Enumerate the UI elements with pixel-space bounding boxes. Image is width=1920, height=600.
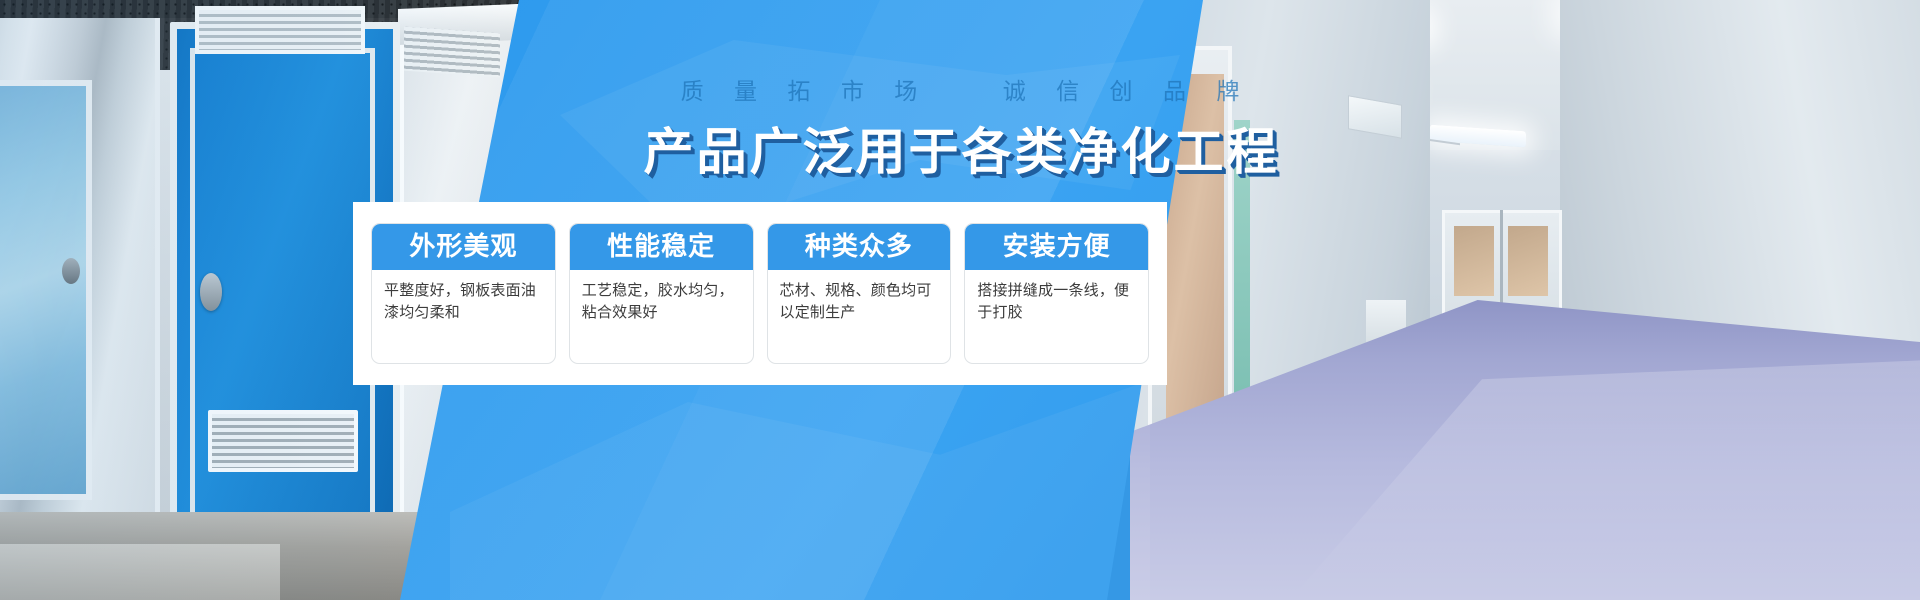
feature-card-4-title: 安装方便 (965, 224, 1148, 270)
feature-card-3-title: 种类众多 (768, 224, 951, 270)
far-door-window-right (1508, 226, 1548, 296)
feature-card-2[interactable]: 性能稳定 工艺稳定，胶水均匀，粘合效果好 (569, 223, 754, 364)
banner-subtitle: 质 量 拓 市 场 诚 信 创 品 牌 (0, 72, 1920, 106)
feature-card-3-body: 芯材、规格、颜色均可以定制生产 (768, 270, 951, 363)
feature-card-1-body: 平整度好，钢板表面油漆均匀柔和 (372, 270, 555, 363)
feature-cards-row: 外形美观 平整度好，钢板表面油漆均匀柔和 性能稳定 工艺稳定，胶水均匀，粘合效果… (353, 202, 1167, 385)
feature-card-1-title: 外形美观 (372, 224, 555, 270)
feature-card-4-body: 搭接拼缝成一条线，便于打胶 (965, 270, 1148, 363)
promo-banner: 质 量 拓 市 场 诚 信 创 品 牌 产品广泛用于各类净化工程 外形美观 平整… (0, 0, 1920, 600)
feature-card-3[interactable]: 种类众多 芯材、规格、颜色均可以定制生产 (767, 223, 952, 364)
banner-title: 产品广泛用于各类净化工程 (0, 112, 1920, 184)
feature-card-1[interactable]: 外形美观 平整度好，钢板表面油漆均匀柔和 (371, 223, 556, 364)
feature-card-4[interactable]: 安装方便 搭接拼缝成一条线，便于打胶 (964, 223, 1149, 364)
feature-card-2-title: 性能稳定 (570, 224, 753, 270)
far-door-window-left (1454, 226, 1494, 296)
feature-card-2-body: 工艺稳定，胶水均匀，粘合效果好 (570, 270, 753, 363)
